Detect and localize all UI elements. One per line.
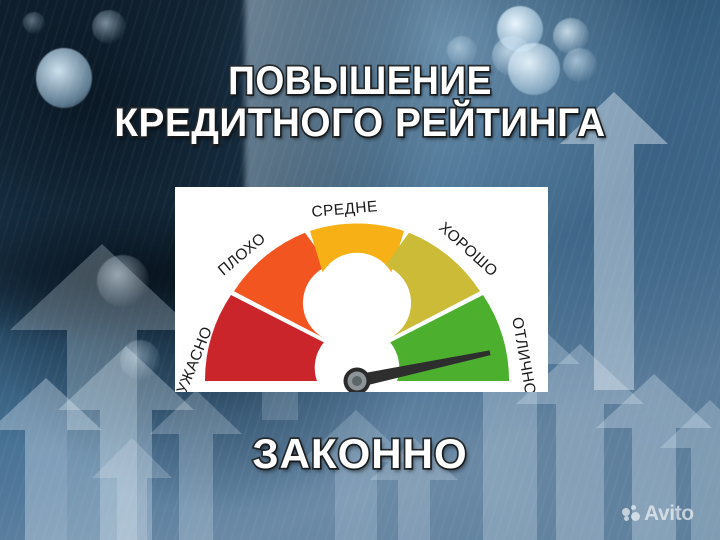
avito-watermark: Avito xyxy=(622,503,694,524)
avito-dots-logo-icon xyxy=(622,505,640,522)
poster-headline: ПОВЫШЕНИЕ КРЕДИТНОГО РЕЙТИНГА xyxy=(0,62,720,143)
gauge-label-otlichno: ОТЛИЧНО xyxy=(508,316,538,392)
headline-line-2: КРЕДИТНОГО РЕЙТИНГА xyxy=(11,104,709,142)
poster-canvas: ПОВЫШЕНИЕ КРЕДИТНОГО РЕЙТИНГА xyxy=(0,0,720,540)
poster-bottom-text: ЗАКОННО xyxy=(0,430,720,478)
credit-score-gauge: УЖАСНО ПЛОХО СРЕДНЕ ХОРОШО ОТЛИЧНО xyxy=(175,187,548,392)
gauge-label-sredne: СРЕДНЕ xyxy=(311,198,379,221)
gauge-needle-hub xyxy=(344,368,371,393)
headline-line-1: ПОВЫШЕНИЕ xyxy=(25,62,695,100)
avito-wordmark: Avito xyxy=(644,503,694,524)
credit-score-gauge-card: УЖАСНО ПЛОХО СРЕДНЕ ХОРОШО ОТЛИЧНО xyxy=(175,187,548,392)
gauge-segment-uzhasno xyxy=(205,295,324,381)
